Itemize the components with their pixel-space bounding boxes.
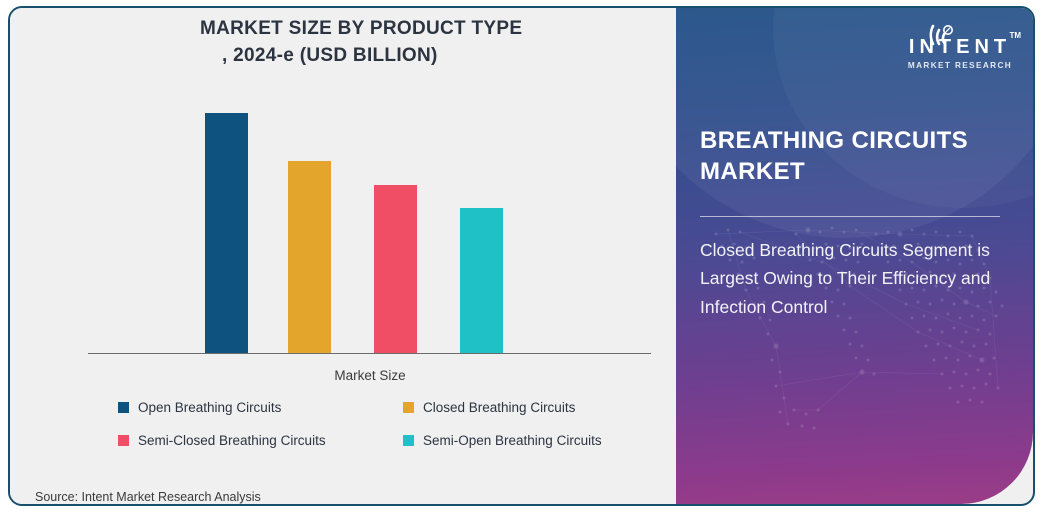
legend-swatch-icon [403,402,414,413]
legend-item-semi-open-breathing-circuits[interactable]: Semi-Open Breathing Circuits [403,433,602,448]
brand-logo: INTENT TM MARKET RESEARCH [887,18,1019,70]
legend-row: Open Breathing Circuits Closed Breathing… [118,400,663,415]
side-panel-title: BREATHING CIRCUITS MARKET [700,125,1010,187]
legend-item-open-breathing-circuits[interactable]: Open Breathing Circuits [118,400,403,415]
x-axis-label: Market Size [88,368,652,383]
legend-label: Closed Breathing Circuits [423,400,575,415]
legend-item-closed-breathing-circuits[interactable]: Closed Breathing Circuits [403,400,575,415]
logo-wordmark: INTENT TM [901,37,1019,57]
bar-semi-open-breathing-circuits [460,208,503,354]
legend-swatch-icon [118,402,129,413]
x-axis-line [88,353,651,354]
logo-subtitle: MARKET RESEARCH [901,61,1019,70]
chart-legend: Open Breathing Circuits Closed Breathing… [118,400,663,466]
bar-semi-closed-breathing-circuits [374,185,417,354]
chart-title: MARKET SIZE BY PRODUCT TYPE , 2024-e (US… [200,16,670,70]
side-panel: INTENT TM MARKET RESEARCH BREATHING CIRC… [676,8,1033,504]
trademark-icon: TM [1009,32,1021,40]
infographic-card: MARKET SIZE BY PRODUCT TYPE , 2024-e (US… [8,6,1035,506]
legend-label: Semi-Closed Breathing Circuits [138,433,326,448]
legend-row: Semi-Closed Breathing Circuits Semi-Open… [118,433,663,448]
source-note: Source: Intent Market Research Analysis [35,490,261,504]
chart-pane: MARKET SIZE BY PRODUCT TYPE , 2024-e (US… [10,8,680,504]
legend-label: Open Breathing Circuits [138,400,281,415]
bar-plot-area [88,100,652,354]
legend-label: Semi-Open Breathing Circuits [423,433,602,448]
bar-closed-breathing-circuits [288,161,331,354]
legend-swatch-icon [403,435,414,446]
chart-title-line1: MARKET SIZE BY PRODUCT TYPE [200,18,522,39]
legend-item-semi-closed-breathing-circuits[interactable]: Semi-Closed Breathing Circuits [118,433,403,448]
bar-open-breathing-circuits [205,113,248,354]
legend-swatch-icon [118,435,129,446]
side-panel-divider [700,216,1000,217]
side-panel-body: Closed Breathing Circuits Segment is Lar… [700,236,1008,321]
world-map-network-decoration [676,174,1033,504]
logo-word-text: INTENT [909,36,1011,58]
chart-title-line2: , 2024-e (USD BILLION) [200,43,670,70]
